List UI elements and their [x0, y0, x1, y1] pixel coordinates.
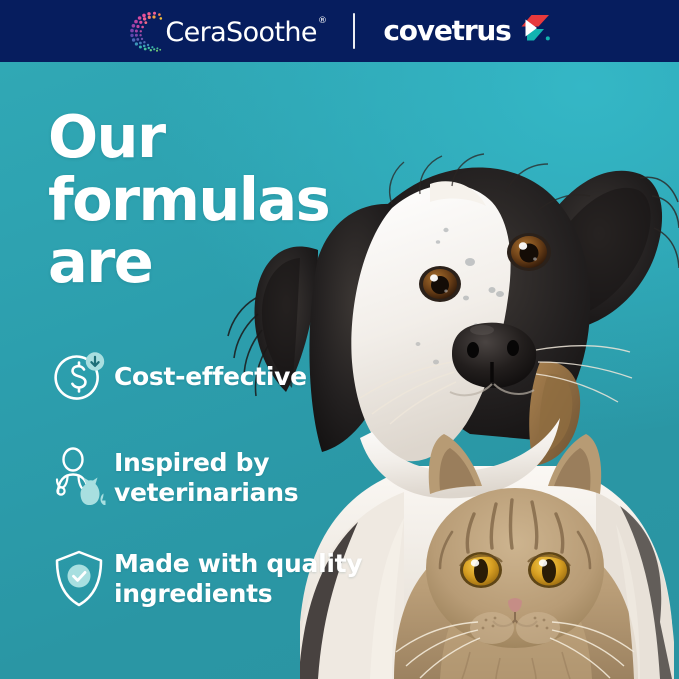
feature-item-inspired-by-veterinarians: Inspired by veterinarians [44, 441, 374, 515]
headline-line-2: formulas [48, 169, 329, 232]
shield-check-icon [44, 542, 114, 616]
cerasoothe-logo: CeraSoothe® [127, 9, 325, 53]
cerasoothe-name: CeraSoothe [165, 17, 317, 48]
feature-item-made-with-quality-ingredients: Made with quality ingredients [44, 542, 374, 616]
feature-label-line: Made with quality [114, 549, 362, 579]
feature-item-cost-effective: Cost-effective [44, 340, 374, 414]
cerasoothe-trademark: ® [318, 16, 326, 26]
brand-header-bar: CeraSoothe® covetrus [0, 0, 679, 62]
feature-list: Cost-effective Inspired by veterinarians [44, 340, 374, 643]
feature-label-line: veterinarians [114, 478, 298, 508]
covetrus-logo: covetrus [383, 12, 551, 51]
feature-label-line: Cost-effective [114, 362, 307, 392]
brand-divider-icon [353, 13, 355, 49]
feature-label-inspired-by-veterinarians: Inspired by veterinarians [114, 448, 298, 508]
hero-headline: Our formulas are [48, 106, 329, 294]
feature-label-line: ingredients [114, 579, 362, 609]
feature-label-made-with-quality-ingredients: Made with quality ingredients [114, 549, 362, 609]
feature-label-line: Inspired by [114, 448, 298, 478]
cerasoothe-wordmark: CeraSoothe® [165, 19, 325, 46]
covetrus-diamond-mark-icon [518, 12, 552, 51]
dollar-circle-down-arrow-icon [44, 340, 114, 414]
covetrus-wordmark: covetrus [383, 17, 510, 45]
feature-label-cost-effective: Cost-effective [114, 362, 307, 392]
advertisement-banner: Our formulas are Cost-effective [0, 0, 679, 679]
headline-line-3: are [48, 231, 329, 294]
headline-line-1: Our [48, 106, 329, 169]
veterinarian-with-cat-icon [44, 441, 114, 515]
